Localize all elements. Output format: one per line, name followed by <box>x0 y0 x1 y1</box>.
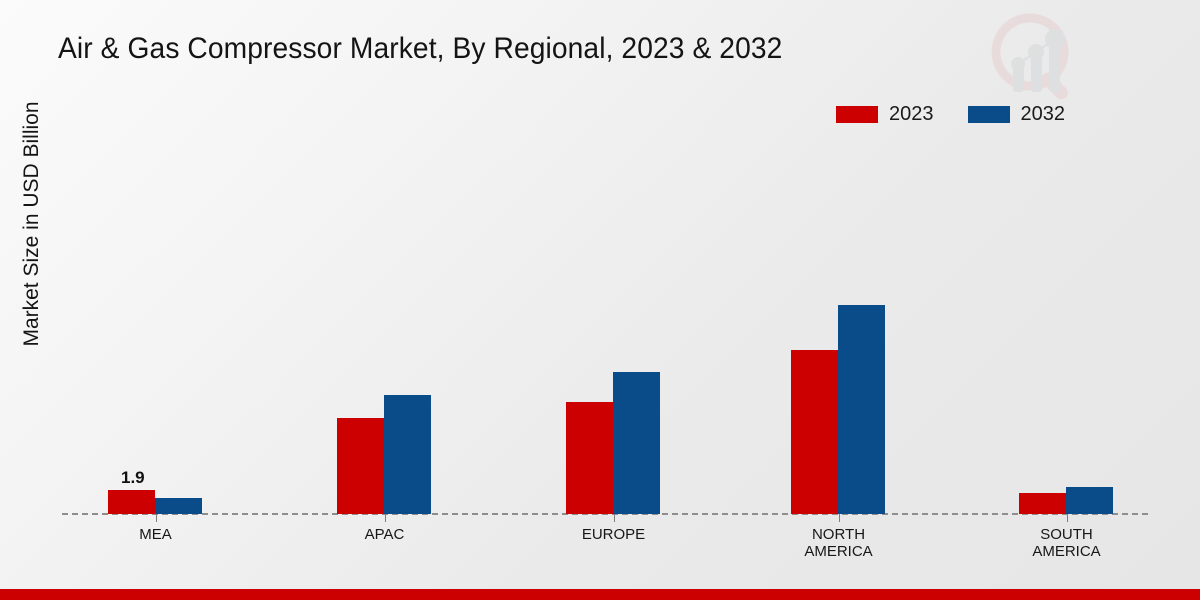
bar-mea-2032[interactable] <box>155 498 202 514</box>
x-tick-mea <box>156 514 157 522</box>
bar-north-america-2023[interactable] <box>791 350 838 514</box>
bar-mea-2023[interactable] <box>108 490 155 514</box>
bar-europe-2023[interactable] <box>566 402 613 514</box>
bar-north-america-2032[interactable] <box>838 305 885 514</box>
x-tick-south-america <box>1067 514 1068 522</box>
bar-group-europe: EUROPE <box>566 0 661 600</box>
bar-europe-2032[interactable] <box>613 372 660 514</box>
bars-apac <box>337 395 431 514</box>
bars-south-america <box>1019 487 1113 514</box>
plot-area: 1.9 MEA APAC EUROPE <box>0 0 1200 600</box>
value-label-mea-2023: 1.9 <box>121 468 145 488</box>
x-tick-europe <box>614 514 615 522</box>
chart-canvas: Air & Gas Compressor Market, By Regional… <box>0 0 1200 600</box>
x-label-mea: MEA <box>139 526 172 543</box>
x-label-north-america: NORTH AMERICA <box>804 526 872 560</box>
bar-apac-2032[interactable] <box>384 395 431 514</box>
x-label-south-america: SOUTH AMERICA <box>1032 526 1100 560</box>
x-tick-north-america <box>839 514 840 522</box>
x-tick-apac <box>385 514 386 522</box>
bar-group-north-america: NORTH AMERICA <box>791 0 886 600</box>
x-label-europe: EUROPE <box>582 526 645 543</box>
bar-group-apac: APAC <box>337 0 432 600</box>
bars-mea <box>108 490 202 514</box>
footer-accent-bar <box>0 589 1200 600</box>
bar-south-america-2023[interactable] <box>1019 493 1066 514</box>
bar-south-america-2032[interactable] <box>1066 487 1113 514</box>
bar-group-south-america: SOUTH AMERICA <box>1019 0 1114 600</box>
x-label-apac: APAC <box>365 526 405 543</box>
bar-apac-2023[interactable] <box>337 418 384 514</box>
bar-group-mea: 1.9 MEA <box>108 0 203 600</box>
bars-europe <box>566 372 660 514</box>
bars-north-america <box>791 305 885 514</box>
